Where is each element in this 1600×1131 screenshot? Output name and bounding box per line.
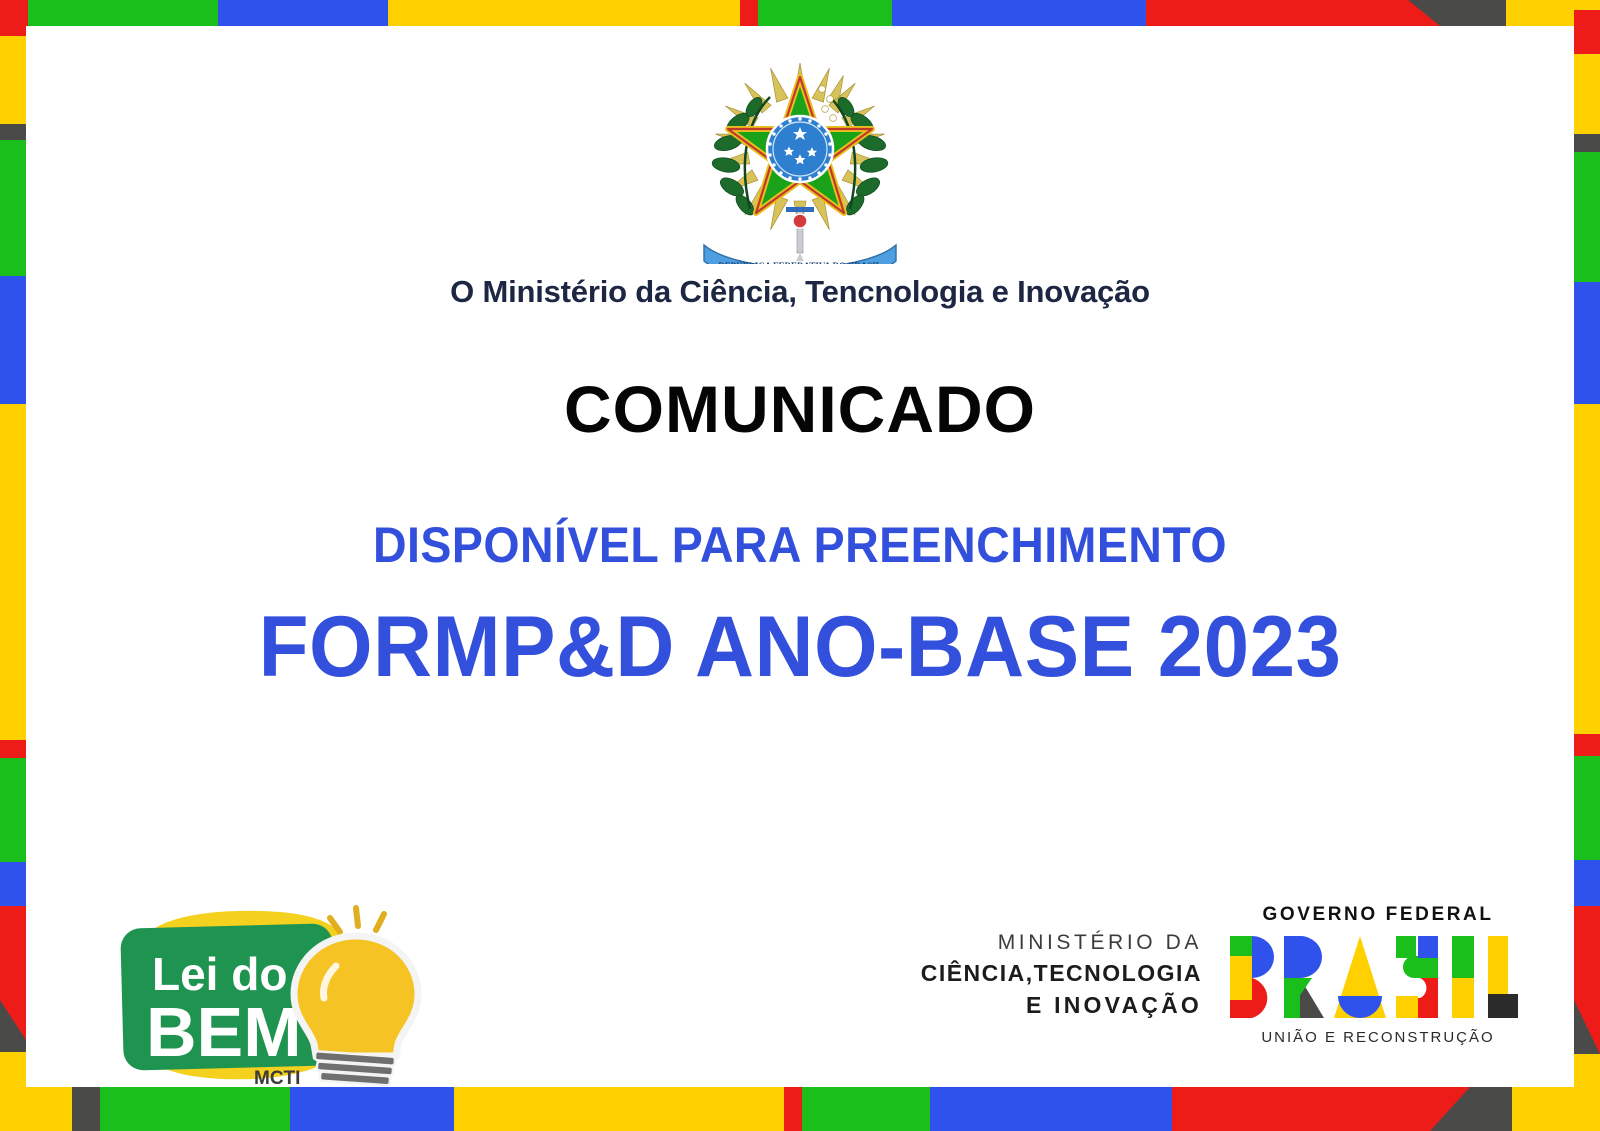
frame-seg-left-6 [0, 740, 26, 758]
governo-federal-title: GOVERNO FEDERAL [1228, 904, 1528, 926]
lei-do-bem-line2: BEM [146, 993, 302, 1071]
frame-seg-left-0 [0, 0, 26, 36]
frame-seg-left-3 [0, 140, 26, 276]
coat-of-arms-container: REPÚBLICA FEDERATIVA DO BRASIL 15 de Nov… [26, 54, 1574, 264]
frame-seg-right-10 [1574, 906, 1600, 1054]
lei-do-bem-line3: MCTI [254, 1068, 300, 1089]
frame-seg-right-5 [1574, 282, 1600, 404]
frame-seg-top-4 [740, 0, 758, 26]
frame-seg-bottom-3 [290, 1087, 454, 1131]
frame-seg-right-9 [1574, 860, 1600, 906]
frame-seg-right-11 [1574, 1054, 1600, 1131]
frame-seg-left-9 [0, 906, 26, 1052]
frame-band-top [0, 0, 1600, 26]
frame-seg-bottom-1 [72, 1087, 100, 1131]
governo-federal-logo: GOVERNO FEDERAL [1228, 904, 1528, 1046]
ministry-line: O Ministério da Ciência, Tencnologia e I… [26, 274, 1574, 310]
frame-seg-left-4 [0, 276, 26, 404]
frame-band-right [1574, 0, 1600, 1131]
frame-seg-left-2 [0, 124, 26, 140]
frame-seg-top-7 [1146, 0, 1506, 26]
governo-federal-subtitle: UNIÃO E RECONSTRUÇÃO [1228, 1029, 1528, 1046]
subheadline: DISPONÍVEL PARA PREENCHIMENTO [80, 516, 1520, 574]
frame-seg-left-10 [0, 1052, 26, 1131]
frame-seg-right-1 [1574, 10, 1600, 54]
mcti-line-3: E INOVAÇÃO [921, 992, 1202, 1019]
frame-seg-bottom-4 [454, 1087, 784, 1131]
frame-band-bottom [0, 1087, 1600, 1131]
poster-page: REPÚBLICA FEDERATIVA DO BRASIL 15 de Nov… [26, 26, 1574, 1087]
frame-seg-top-5 [758, 0, 892, 26]
brazil-coat-of-arms-icon: REPÚBLICA FEDERATIVA DO BRASIL 15 de Nov… [700, 54, 900, 264]
frame-seg-right-3 [1574, 134, 1600, 152]
frame-seg-left-7 [0, 758, 26, 862]
brasil-wordmark-icon [1228, 934, 1520, 1020]
frame-seg-bottom-2 [100, 1087, 290, 1131]
frame-seg-right-2 [1574, 54, 1600, 134]
form-title: FORMP&D ANO-BASE 2023 [65, 598, 1536, 697]
frame-seg-bottom-7 [930, 1087, 1172, 1131]
page-title: COMUNICADO [26, 371, 1574, 447]
frame-seg-right-0 [1574, 0, 1600, 10]
frame-seg-left-1 [0, 36, 26, 124]
frame-seg-top-6 [892, 0, 1146, 26]
mcti-wordmark: MINISTÉRIO DA CIÊNCIA,TECNOLOGIA E INOVA… [921, 931, 1202, 1019]
frame-seg-right-7 [1574, 734, 1600, 756]
frame-seg-right-4 [1574, 152, 1600, 282]
frame-band-left [0, 0, 26, 1131]
poster-root: REPÚBLICA FEDERATIVA DO BRASIL 15 de Nov… [0, 0, 1600, 1131]
frame-seg-bottom-6 [802, 1087, 930, 1131]
frame-seg-left-5 [0, 404, 26, 740]
frame-seg-right-8 [1574, 756, 1600, 860]
frame-seg-left-8 [0, 862, 26, 906]
lei-do-bem-logo: Lei do BEM MCTI [104, 878, 424, 1093]
mcti-line-2: CIÊNCIA,TECNOLOGIA [921, 960, 1202, 987]
frame-seg-bottom-8 [1172, 1087, 1512, 1131]
frame-seg-bottom-5 [784, 1087, 802, 1131]
frame-seg-right-6 [1574, 404, 1600, 734]
mcti-line-1: MINISTÉRIO DA [921, 931, 1202, 955]
frame-seg-top-2 [218, 0, 388, 26]
frame-seg-top-1 [28, 0, 218, 26]
frame-seg-top-3 [388, 0, 740, 26]
